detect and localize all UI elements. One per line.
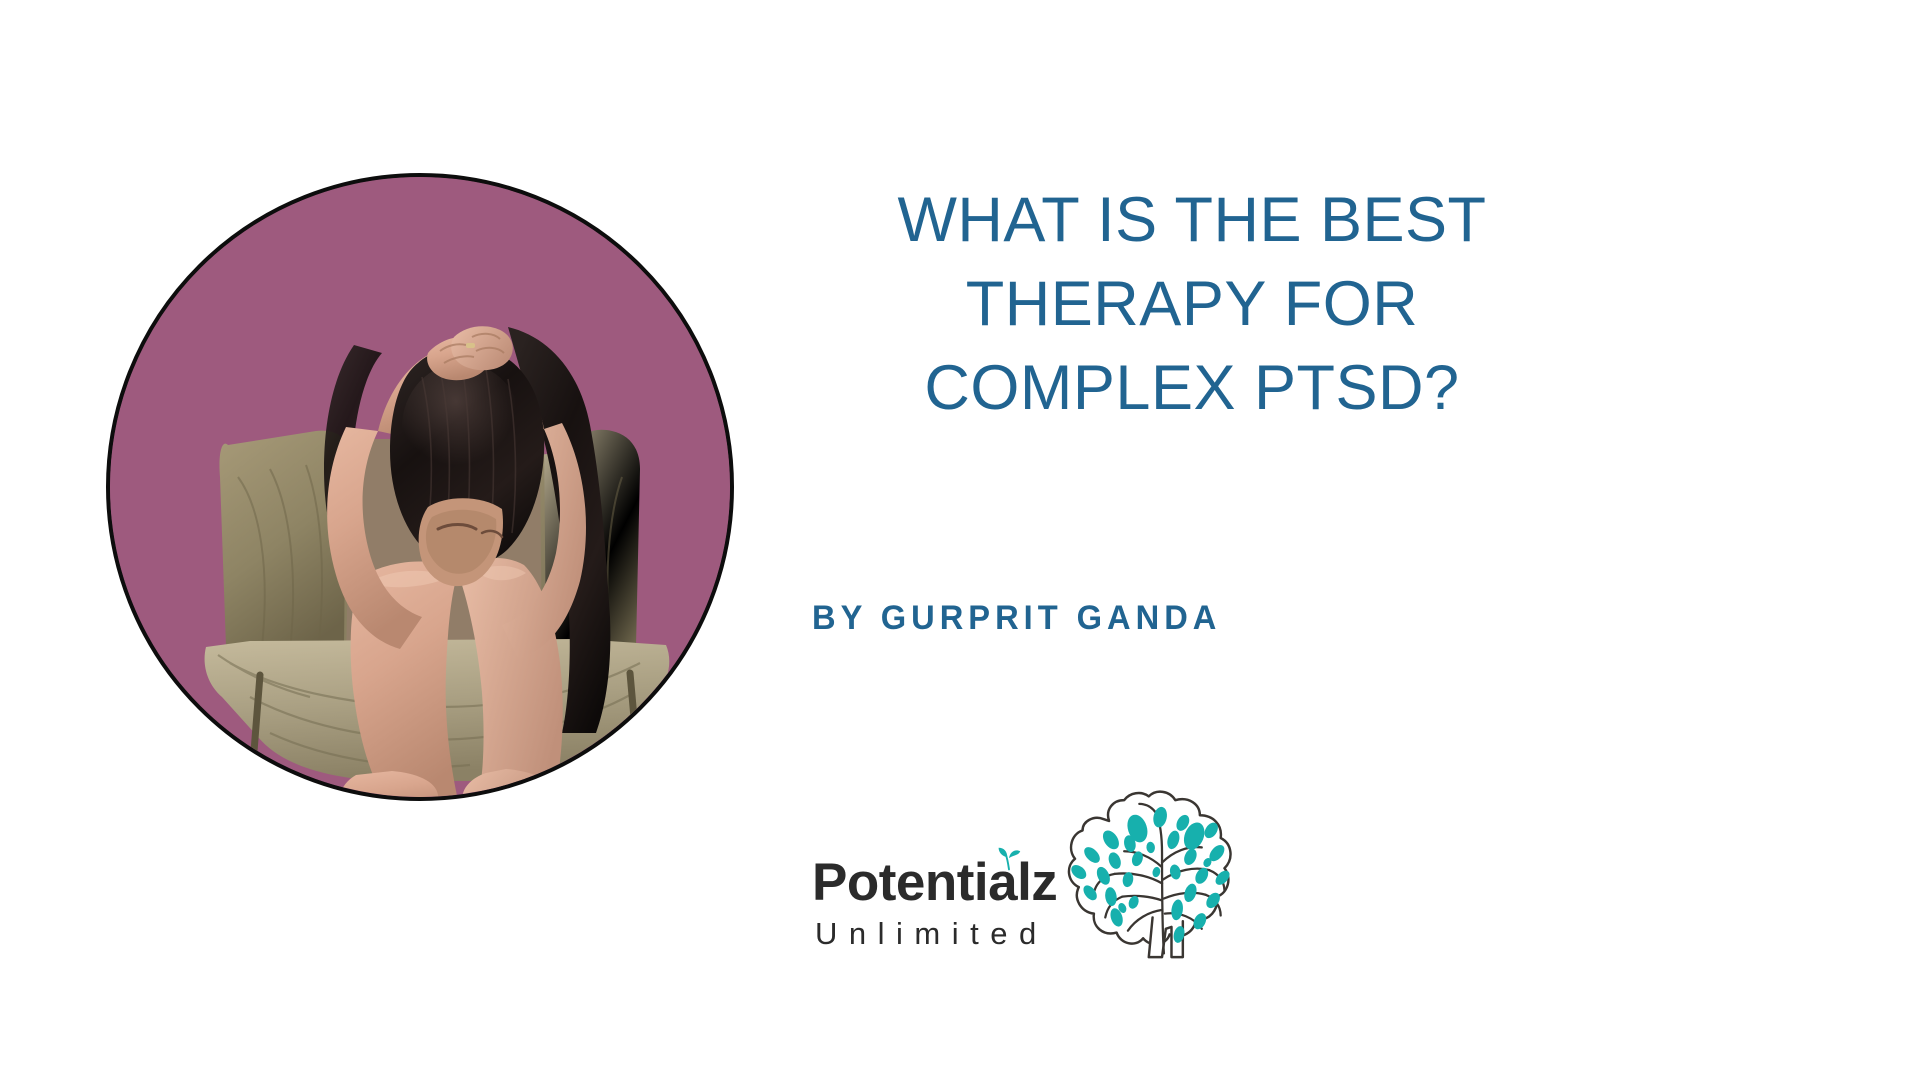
slide-canvas: WHAT IS THE BEST THERAPY FOR COMPLEX PTS… xyxy=(0,0,1920,1080)
page-title-line-2: THERAPY FOR xyxy=(812,262,1572,346)
brand-tagline: Unlimited xyxy=(815,918,1048,949)
page-title-line-3: COMPLEX PTSD? xyxy=(812,346,1572,430)
page-title: WHAT IS THE BEST THERAPY FOR COMPLEX PTS… xyxy=(812,178,1572,430)
leaf-sprout-icon xyxy=(996,846,1022,872)
hero-photo-image xyxy=(110,177,730,797)
author-byline: BY GURPRIT GANDA xyxy=(812,599,1221,638)
page-title-line-1: WHAT IS THE BEST xyxy=(812,178,1572,262)
brand-logo: Potentialz Unlimited xyxy=(812,790,1212,970)
hero-photo-circle xyxy=(106,173,734,801)
hero-photo-illustration xyxy=(110,177,730,797)
brain-tree-icon xyxy=(1049,785,1241,960)
